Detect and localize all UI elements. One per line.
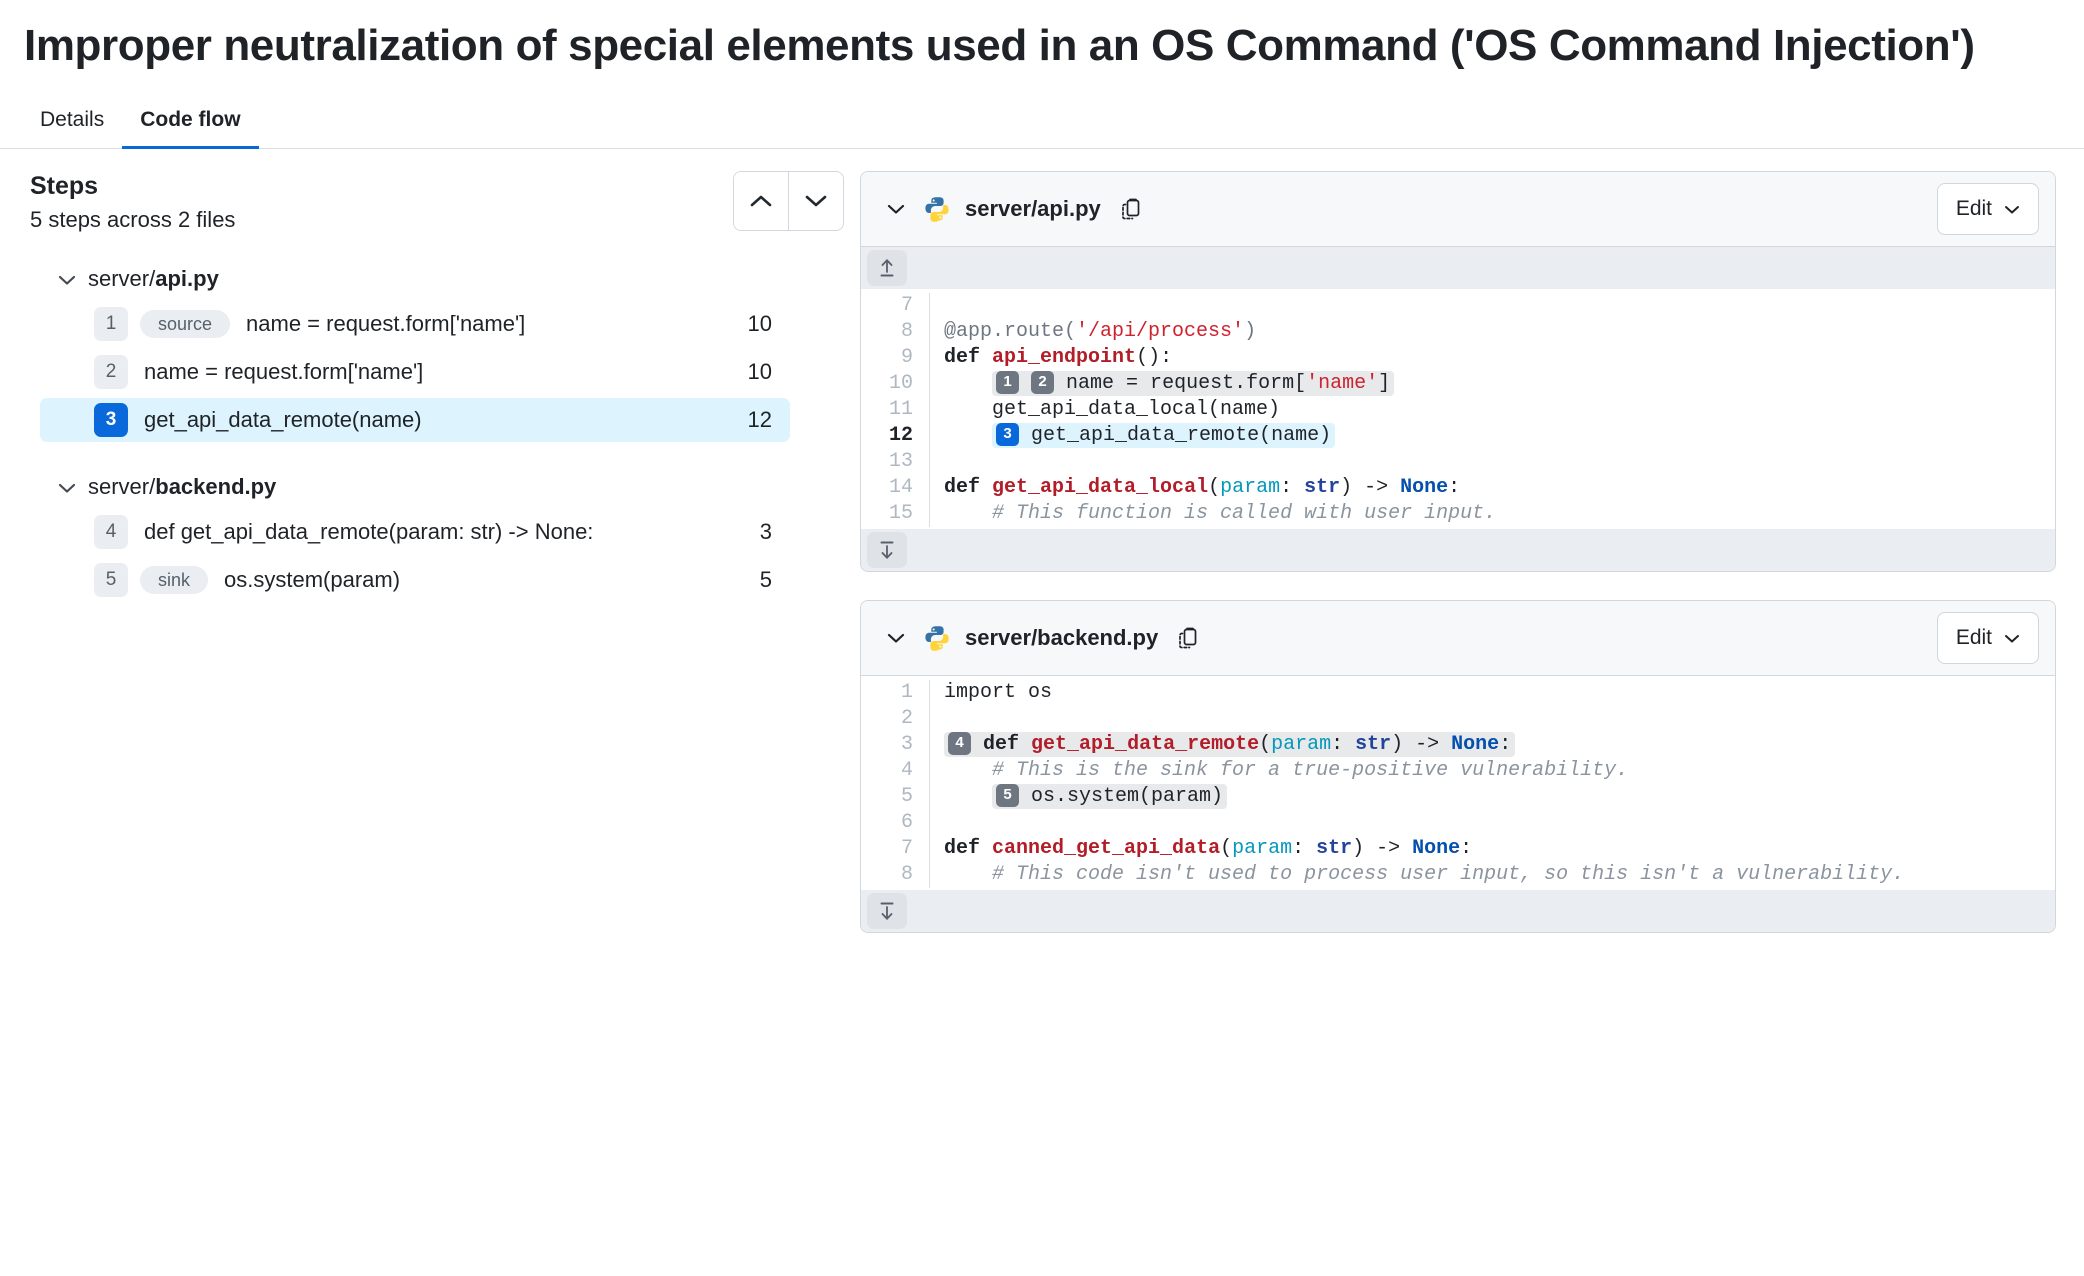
step-line-number: 12 xyxy=(728,407,772,433)
step-row-1[interactable]: 1 source name = request.form['name'] 10 xyxy=(40,302,790,346)
code-line: 8 # This code isn't used to process user… xyxy=(861,862,2055,888)
line-number: 7 xyxy=(861,293,930,319)
code-step-marker-2[interactable]: 2 xyxy=(1031,371,1054,393)
step-code-text: name = request.form['name'] xyxy=(246,311,525,337)
code-line: 4 # This is the sink for a true-positive… xyxy=(861,758,2055,784)
chevron-down-icon xyxy=(58,474,76,500)
code-step-marker-3[interactable]: 3 xyxy=(996,423,1019,445)
code-line: 11 get_api_data_local(name) xyxy=(861,397,2055,423)
step-index-badge: 1 xyxy=(94,307,128,341)
step-row-2[interactable]: 2 name = request.form['name'] 10 xyxy=(40,350,790,394)
line-content: # This is the sink for a true-positive v… xyxy=(930,758,1628,784)
code-line: 7 xyxy=(861,293,2055,319)
step-code-text: def get_api_data_remote(param: str) -> N… xyxy=(144,519,593,545)
step-file-header-api[interactable]: server/api.py xyxy=(30,260,860,298)
line-content: get_api_data_local(name) xyxy=(930,397,1280,423)
step-line-number: 10 xyxy=(728,311,772,337)
line-number: 10 xyxy=(861,371,930,397)
chevron-down-icon xyxy=(2004,197,2020,221)
code-line: 14 def get_api_data_local(param: str) ->… xyxy=(861,475,2055,501)
steps-header-text: Steps 5 steps across 2 files xyxy=(30,171,235,233)
line-number: 1 xyxy=(861,680,930,706)
previous-step-button[interactable] xyxy=(734,172,788,230)
step-line-number: 5 xyxy=(740,567,772,593)
expand-down-button[interactable] xyxy=(867,532,907,568)
line-number: 6 xyxy=(861,810,930,836)
code-panel-file-name: server/api.py xyxy=(965,196,1101,222)
line-content: # This code isn't used to process user i… xyxy=(930,862,1904,888)
step-tag-source: source xyxy=(140,310,230,338)
code-panel-backend: server/backend.py Edit 1 xyxy=(860,600,2056,933)
step-file-group-api: server/api.py 1 source name = request.fo… xyxy=(30,260,860,442)
steps-header: Steps 5 steps across 2 files xyxy=(30,171,860,233)
main-content: Steps 5 steps across 2 files xyxy=(0,149,2084,933)
code-line: 13 xyxy=(861,449,2055,475)
line-number: 9 xyxy=(861,345,930,371)
step-file-group-backend: server/backend.py 4 def get_api_data_rem… xyxy=(30,468,860,602)
step-file-header-backend[interactable]: server/backend.py xyxy=(30,468,860,506)
code-line: 3 4 def get_api_data_remote(param: str) … xyxy=(861,732,2055,758)
step-nav-group xyxy=(733,171,844,231)
line-number: 15 xyxy=(861,501,930,527)
page-title: Improper neutralization of special eleme… xyxy=(24,18,2014,74)
step-index-badge: 4 xyxy=(94,515,128,549)
code-line: 9 def api_endpoint(): xyxy=(861,345,2055,371)
expand-up-button[interactable] xyxy=(867,250,907,286)
line-content: # This function is called with user inpu… xyxy=(930,501,1496,527)
code-panel-header-api: server/api.py Edit xyxy=(861,172,2055,247)
step-code-text: name = request.form['name'] xyxy=(144,359,423,385)
steps-title: Steps xyxy=(30,171,235,201)
code-line: 7 def canned_get_api_data(param: str) ->… xyxy=(861,836,2055,862)
line-content: 4 def get_api_data_remote(param: str) ->… xyxy=(930,732,1515,758)
step-index-badge: 5 xyxy=(94,563,128,597)
code-step-marker-5[interactable]: 5 xyxy=(996,784,1019,806)
expand-down-button[interactable] xyxy=(867,893,907,929)
chevron-down-icon xyxy=(2004,626,2020,650)
line-content: def canned_get_api_data(param: str) -> N… xyxy=(930,836,1472,862)
line-content: def api_endpoint(): xyxy=(930,345,1172,371)
expand-down-bar-api xyxy=(861,529,2055,571)
step-tag-sink: sink xyxy=(140,566,208,594)
edit-button-backend[interactable]: Edit xyxy=(1937,612,2039,664)
tab-details[interactable]: Details xyxy=(22,108,122,149)
edit-button-label: Edit xyxy=(1956,626,1992,650)
code-line: 6 xyxy=(861,810,2055,836)
code-line: 8 @app.route('/api/process') xyxy=(861,319,2055,345)
chevron-up-icon xyxy=(750,194,772,208)
edit-button-api[interactable]: Edit xyxy=(1937,183,2039,235)
line-number: 8 xyxy=(861,862,930,888)
step-code-text: os.system(param) xyxy=(224,567,400,593)
step-row-5[interactable]: 5 sink os.system(param) 5 xyxy=(40,558,790,602)
step-code-text: get_api_data_remote(name) xyxy=(144,407,422,433)
copy-icon[interactable] xyxy=(1178,626,1200,650)
expand-up-bar-api xyxy=(861,247,2055,289)
line-number: 2 xyxy=(861,706,930,732)
line-number: 4 xyxy=(861,758,930,784)
line-number: 13 xyxy=(861,449,930,475)
chevron-down-icon[interactable] xyxy=(883,203,909,215)
code-body-api[interactable]: 7 8 @app.route('/api/process') 9 def api… xyxy=(861,289,2055,529)
step-row-3[interactable]: 3 get_api_data_remote(name) 12 xyxy=(40,398,790,442)
line-number: 11 xyxy=(861,397,930,423)
code-line: 12 3 get_api_data_remote(name) xyxy=(861,423,2055,449)
tab-bar: Details Code flow xyxy=(0,100,2084,149)
step-index-badge: 2 xyxy=(94,355,128,389)
step-line-number: 3 xyxy=(740,519,772,545)
step-row-4[interactable]: 4 def get_api_data_remote(param: str) ->… xyxy=(40,510,790,554)
line-content: import os xyxy=(930,680,1052,706)
chevron-down-icon[interactable] xyxy=(883,632,909,644)
code-line: 10 1 2 name = request.form['name'] xyxy=(861,371,2055,397)
code-step-marker-4[interactable]: 4 xyxy=(948,732,971,754)
code-line: 2 xyxy=(861,706,2055,732)
line-content: 3 get_api_data_remote(name) xyxy=(930,423,1335,449)
python-icon xyxy=(923,624,951,652)
steps-subtitle: 5 steps across 2 files xyxy=(30,207,235,233)
code-panel-api: server/api.py Edit xyxy=(860,171,2056,572)
step-index-badge: 3 xyxy=(94,403,128,437)
code-panels-column: server/api.py Edit xyxy=(860,171,2062,933)
step-file-path-api: server/api.py xyxy=(88,266,219,292)
line-number: 12 xyxy=(861,423,930,449)
line-number: 14 xyxy=(861,475,930,501)
edit-button-label: Edit xyxy=(1956,197,1992,221)
code-body-backend[interactable]: 1 import os 2 3 4 def get_api_data_remot… xyxy=(861,676,2055,890)
line-content: def get_api_data_local(param: str) -> No… xyxy=(930,475,1460,501)
steps-panel: Steps 5 steps across 2 files xyxy=(22,171,860,605)
page-header: Improper neutralization of special eleme… xyxy=(0,0,2084,74)
line-content: @app.route('/api/process') xyxy=(930,319,1256,345)
line-number: 7 xyxy=(861,836,930,862)
chevron-down-icon xyxy=(805,194,827,208)
line-content: 5 os.system(param) xyxy=(930,784,1227,810)
copy-icon[interactable] xyxy=(1121,197,1143,221)
tab-code-flow[interactable]: Code flow xyxy=(122,108,258,149)
code-step-marker-1[interactable]: 1 xyxy=(996,371,1019,393)
line-number: 3 xyxy=(861,732,930,758)
next-step-button[interactable] xyxy=(788,172,843,230)
chevron-down-icon xyxy=(58,266,76,292)
code-panel-file-name: server/backend.py xyxy=(965,625,1158,651)
line-number: 8 xyxy=(861,319,930,345)
code-panel-header-backend: server/backend.py Edit xyxy=(861,601,2055,676)
step-file-path-backend: server/backend.py xyxy=(88,474,276,500)
python-icon xyxy=(923,195,951,223)
code-line: 1 import os xyxy=(861,680,2055,706)
step-line-number: 10 xyxy=(728,359,772,385)
line-number: 5 xyxy=(861,784,930,810)
code-line: 15 # This function is called with user i… xyxy=(861,501,2055,527)
expand-down-bar-backend xyxy=(861,890,2055,932)
line-content: 1 2 name = request.form['name'] xyxy=(930,371,1394,397)
code-line: 5 5 os.system(param) xyxy=(861,784,2055,810)
